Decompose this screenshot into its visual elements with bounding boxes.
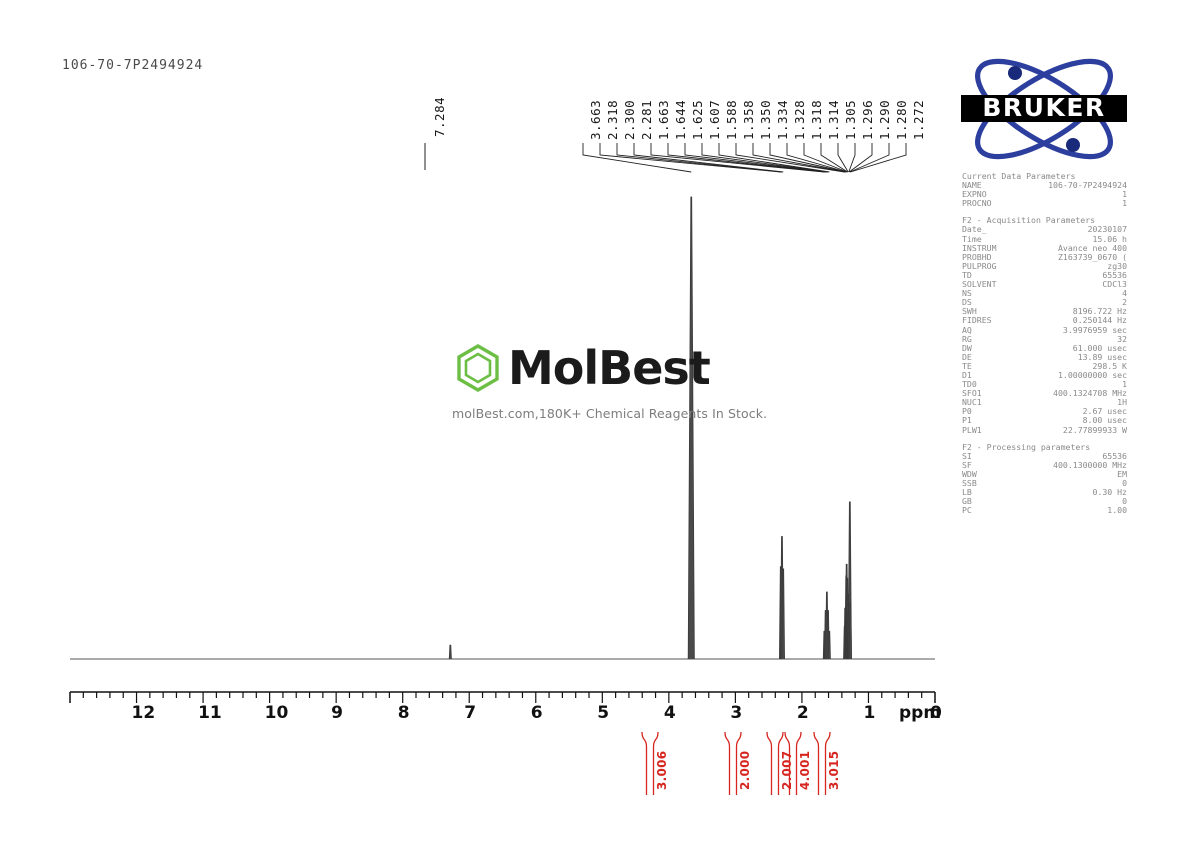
watermark-tagline: molBest.com,180K+ Chemical Reagents In S…: [452, 406, 752, 421]
molbest-watermark: MolBest molBest.com,180K+ Chemical Reage…: [452, 342, 752, 421]
param-section-current: NAME106-70-7P2494924EXPNO1PROCNO1: [962, 181, 1127, 208]
parameter-row: WDWEM: [962, 470, 1127, 479]
parameter-row: GB0: [962, 497, 1127, 506]
parameter-row: PROCNO1: [962, 199, 1127, 208]
acquisition-parameters-panel: Current Data Parameters NAME106-70-7P249…: [962, 172, 1127, 515]
parameter-row: D11.00000000 sec: [962, 371, 1127, 380]
parameter-value: 1: [1122, 199, 1127, 208]
bruker-wordmark-box: BRUKER: [961, 93, 1127, 122]
integral-value-label: 4.001: [798, 751, 812, 790]
parameter-row: SF400.1300000 MHz: [962, 461, 1127, 470]
parameter-key: PC: [962, 506, 972, 515]
parameter-value: 1.00: [1107, 506, 1127, 515]
integral-value-label: 2.000: [738, 751, 752, 790]
parameter-row: AQ3.9976959 sec: [962, 326, 1127, 335]
parameter-row: SFO1400.1324708 MHz: [962, 389, 1127, 398]
parameter-row: NS4: [962, 289, 1127, 298]
parameter-key: PLW1: [962, 426, 982, 435]
hexagon-icon: [452, 342, 504, 394]
param-section-processing: SI65536SF400.1300000 MHzWDWEMSSB0LB0.30 …: [962, 452, 1127, 516]
integral-value-label: 3.006: [655, 751, 669, 790]
parameter-value: 400.1300000 MHz: [1053, 461, 1127, 470]
watermark-brand-text: MolBest: [508, 345, 710, 391]
bruker-wordmark: BRUKER: [982, 93, 1105, 122]
bruker-node-bottom: [1066, 138, 1080, 152]
bruker-logo: BRUKER: [958, 56, 1130, 166]
parameter-row: PC1.00: [962, 506, 1127, 515]
integral-value-label: 3.015: [827, 751, 841, 790]
parameter-value: 106-70-7P2494924: [1048, 181, 1127, 190]
parameter-row: SOLVENTCDCl3: [962, 280, 1127, 289]
parameter-value: 400.1324708 MHz: [1053, 389, 1127, 398]
parameter-key: PROCNO: [962, 199, 992, 208]
integral-value-label: 2.007: [780, 751, 794, 790]
bruker-node-top: [1008, 66, 1022, 80]
parameter-value: 22.77899933 W: [1063, 426, 1127, 435]
bruker-logo-svg: BRUKER: [958, 56, 1130, 162]
param-section-acquisition: Date_20230107Time15.06 hINSTRUMAvance ne…: [962, 225, 1127, 434]
parameter-value: 1.00000000 sec: [1058, 371, 1127, 380]
parameter-row: LB0.30 Hz: [962, 488, 1127, 497]
parameter-row: PLW122.77899933 W: [962, 426, 1127, 435]
